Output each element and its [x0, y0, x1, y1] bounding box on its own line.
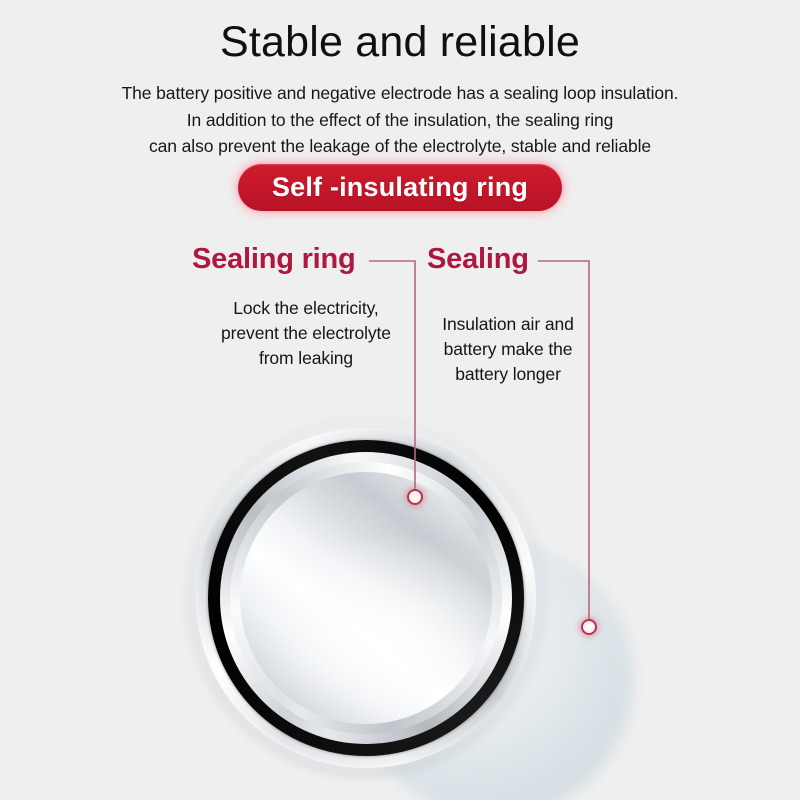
callout-heading-sealing-ring: Sealing ring [192, 243, 356, 276]
marker-dot-sealing[interactable] [581, 619, 597, 635]
badge-label: Self -insulating ring [272, 172, 528, 203]
intro-line-1: The battery positive and negative electr… [0, 80, 800, 107]
page-title: Stable and reliable [0, 18, 800, 66]
callout-body-line: prevent the electrolyte [197, 321, 415, 346]
intro-paragraph: The battery positive and negative electr… [0, 80, 800, 160]
marker-dot-sealing-ring[interactable] [407, 489, 423, 505]
callout-body-line: Insulation air and [424, 312, 592, 337]
infographic-page: Stable and reliable The battery positive… [0, 0, 800, 800]
intro-line-3: can also prevent the leakage of the elec… [0, 133, 800, 160]
callout-body-line: battery make the [424, 337, 592, 362]
face-edge-shading [240, 472, 492, 724]
callout-body-line: from leaking [197, 346, 415, 371]
badge-container: Self -insulating ring [0, 164, 800, 211]
intro-line-2: In addition to the effect of the insulat… [0, 107, 800, 134]
self-insulating-ring-badge[interactable]: Self -insulating ring [238, 164, 562, 211]
callout-body-sealing: Insulation air and battery make the batt… [424, 312, 592, 387]
callout-body-line: Lock the electricity, [197, 296, 415, 321]
callout-body-sealing-ring: Lock the electricity, prevent the electr… [197, 296, 415, 371]
battery-artwork [0, 410, 800, 800]
callout-body-line: battery longer [424, 362, 592, 387]
front-battery-cell [196, 428, 536, 768]
callout-heading-sealing: Sealing [427, 243, 529, 276]
